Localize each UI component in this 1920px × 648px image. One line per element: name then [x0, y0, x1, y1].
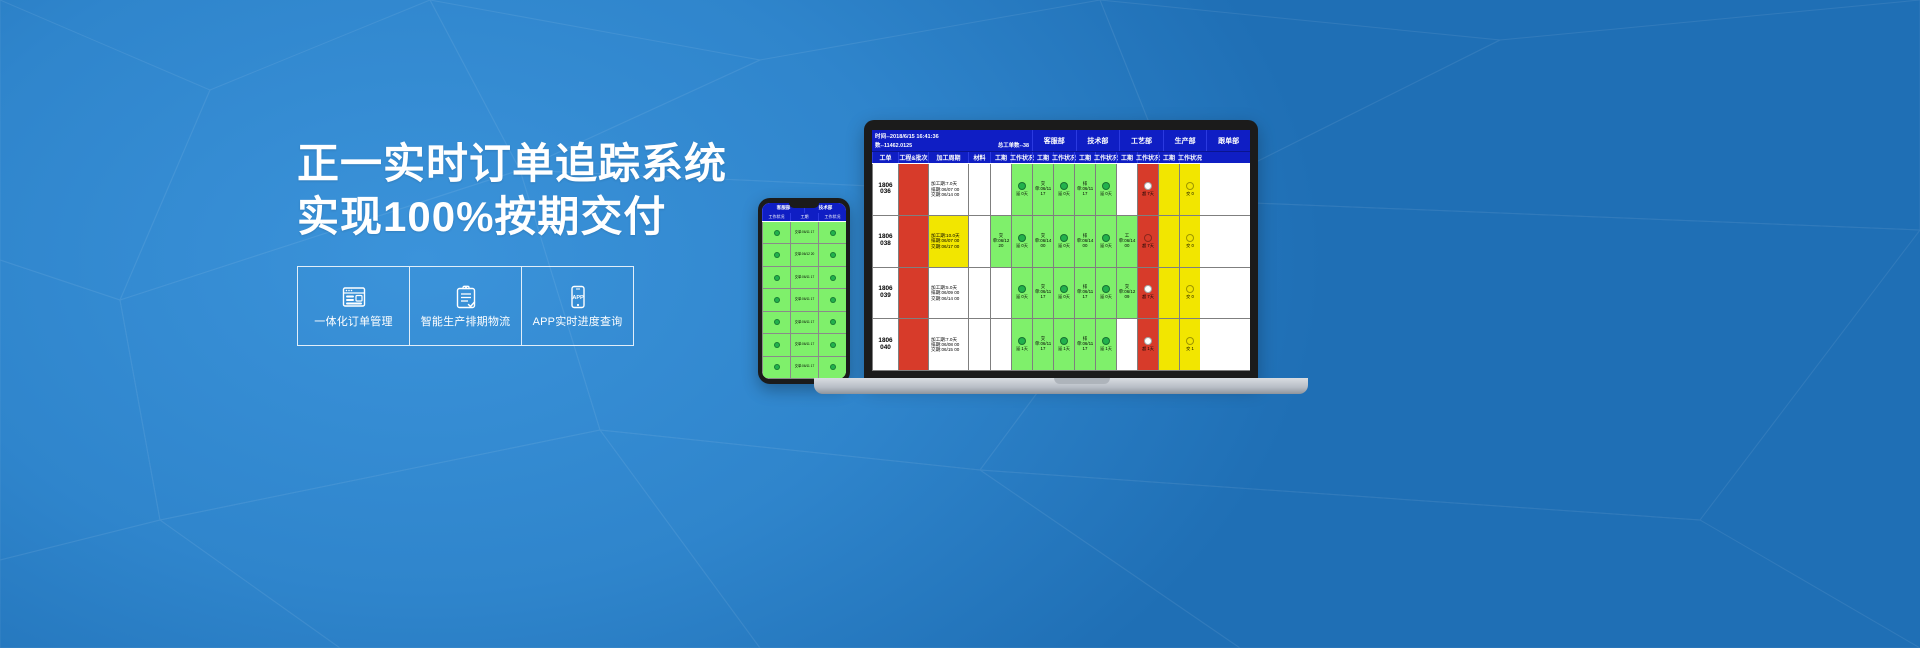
status-dot-icon [774, 252, 780, 258]
phone-status-cell [818, 267, 846, 288]
table-row[interactable]: 1806039加工期:5.0天排期:06/09 00交期:06/14 00延 0… [872, 268, 1250, 320]
term-cell: 工单:06/14 00 [1116, 216, 1137, 267]
phone-status-cell [818, 312, 846, 333]
column-header: 工程&批次 [898, 152, 928, 163]
processing-cycle-cell: 加工期:10.0天排期:06/07 00交期:06/17 00 [928, 216, 968, 267]
phone-status-cell [762, 289, 790, 310]
processing-cycle-cell: 加工期:5.0天排期:06/09 00交期:06/14 00 [928, 268, 968, 319]
feature-item-order-management[interactable]: 一体化订单管理 [298, 267, 410, 345]
status-dot-icon [1186, 337, 1194, 345]
status-dot-icon [774, 275, 780, 281]
term-cell [990, 164, 1011, 215]
term-cell [1116, 319, 1137, 370]
work-status-cell: 交 0 [1179, 164, 1200, 215]
status-dot-icon [1018, 182, 1026, 190]
status-dot-icon [830, 364, 836, 370]
laptop-screen[interactable]: 时间--2018/6/15 16:41:36 数--11462.0125 总工单… [872, 130, 1250, 371]
work-status-cell: 延 0天 [1011, 268, 1032, 319]
list-item[interactable]: 交单:06/11 17 [762, 357, 846, 379]
project-batch-cell [898, 268, 928, 319]
status-sub-label: 延 1天 [1058, 346, 1070, 352]
material-cell [968, 268, 990, 319]
column-header: 工期 [1032, 152, 1053, 163]
feature-list: 一体化订单管理 智能生产排期物流 [297, 266, 634, 346]
list-item[interactable]: 交单:06/11 17 [762, 267, 846, 289]
status-dot-icon [1018, 285, 1026, 293]
phone-term-label: 交单:06/11 17 [795, 231, 814, 235]
mobile-app-icon: APP [565, 284, 591, 310]
headline-line-2: 实现100%按期交付 [297, 191, 717, 244]
status-dot-icon [774, 297, 780, 303]
feature-label: 一体化订单管理 [314, 316, 392, 328]
processing-cycle-cell: 加工期:7.0天排期:06/07 00交期:06/14 00 [928, 164, 968, 215]
phone-status-cell [818, 289, 846, 310]
status-dot-icon [830, 297, 836, 303]
column-header: 工作状况 [1137, 152, 1158, 163]
term-cell: 排单:06/11 17 [1074, 319, 1095, 370]
phone-status-cell [818, 244, 846, 265]
term-cell: 排单:06/11 17 [1074, 164, 1095, 215]
term-cell [1158, 216, 1179, 267]
status-dot-icon [1102, 182, 1110, 190]
phone-table-body[interactable]: 交单:06/11 17交单:06/12 20交单:06/11 17交单:06/1… [762, 222, 846, 379]
status-sub-label: 延 0天 [1058, 243, 1070, 249]
phone-status-cell [818, 357, 846, 378]
laptop-trackpad-notch [1054, 378, 1110, 384]
project-batch-cell [898, 319, 928, 370]
dashboard-header: 时间--2018/6/15 16:41:36 数--11462.0125 总工单… [872, 130, 1250, 152]
list-item[interactable]: 交单:06/11 17 [762, 289, 846, 311]
column-header: 工作状况 [1053, 152, 1074, 163]
table-row[interactable]: 1806036加工期:7.0天排期:06/07 00交期:06/14 00延 0… [872, 164, 1250, 216]
phone-screen[interactable]: 客服部 技术部 工作状况 工期 工作状况 交单:06/11 17交单:06/12… [762, 203, 846, 379]
phone-column-header: 工作状况 工期 工作状况 [762, 213, 846, 222]
status-sub-label: 交 1 [1186, 346, 1194, 352]
list-item[interactable]: 交单:06/11 17 [762, 334, 846, 356]
material-cell [968, 216, 990, 267]
term-cell [990, 319, 1011, 370]
work-status-cell: 超 7天 [1137, 268, 1158, 319]
list-item[interactable]: 交单:06/12 20 [762, 244, 846, 266]
status-sub-label: 超 1天 [1142, 346, 1154, 352]
page-title: 正一实时订单追踪系统 实现100%按期交付 [297, 138, 717, 244]
status-sub-label: 延 0天 [1016, 191, 1028, 197]
phone-status-cell [818, 334, 846, 355]
phone-status-cell [762, 222, 790, 243]
hero-copy: 正一实时订单追踪系统 实现100%按期交付 一体化订单管理 [297, 138, 717, 346]
phone-term-cell: 交单:06/11 17 [790, 222, 818, 243]
term-cell: 交单:06/11 17 [1032, 164, 1053, 215]
status-sub-label: 延 1天 [1016, 346, 1028, 352]
dashboard-meta: 时间--2018/6/15 16:41:36 数--11462.0125 总工单… [872, 130, 1032, 151]
phone-col: 工作状况 [818, 213, 846, 221]
status-sub-label: 延 0天 [1100, 294, 1112, 300]
phone-term-cell: 交单:06/11 17 [790, 267, 818, 288]
work-status-cell: 延 0天 [1011, 216, 1032, 267]
work-status-cell: 超 7天 [1137, 216, 1158, 267]
phone-term-cell: 交单:06/11 17 [790, 289, 818, 310]
material-cell [968, 164, 990, 215]
term-cell: 交单:06/12 20 [990, 216, 1011, 267]
project-batch-cell [898, 216, 928, 267]
clipboard-checklist-icon [453, 284, 479, 310]
work-status-cell: 延 0天 [1095, 164, 1116, 215]
status-dot-icon [1102, 285, 1110, 293]
column-header: 工作状况 [1095, 152, 1116, 163]
department-header: 生产部 [1163, 130, 1207, 151]
phone-mockup: 客服部 技术部 工作状况 工期 工作状况 交单:06/11 17交单:06/12… [758, 198, 850, 384]
feature-label: 智能生产排期物流 [421, 316, 511, 328]
work-status-cell: 延 0天 [1053, 164, 1074, 215]
table-row[interactable]: 1806040加工期:7.0天排期:06/08 00交期:06/15 00延 1… [872, 319, 1250, 371]
status-dot-icon [1060, 234, 1068, 242]
column-header: 工期 [1074, 152, 1095, 163]
phone-status-cell [818, 222, 846, 243]
work-status-cell: 延 0天 [1095, 216, 1116, 267]
phone-term-cell: 交单:06/11 17 [790, 334, 818, 355]
status-dot-icon [1060, 337, 1068, 345]
department-header: 工艺部 [1119, 130, 1163, 151]
status-dot-icon [1144, 234, 1152, 242]
phone-term-label: 交单:06/11 17 [795, 276, 814, 280]
status-sub-label: 交 0 [1186, 243, 1194, 249]
laptop-lid: 时间--2018/6/15 16:41:36 数--11462.0125 总工单… [864, 120, 1258, 383]
work-status-cell: 延 0天 [1053, 216, 1074, 267]
status-sub-label: 延 0天 [1016, 294, 1028, 300]
status-sub-label: 延 0天 [1100, 243, 1112, 249]
term-cell [1116, 164, 1137, 215]
phone-col: 工作状况 [762, 213, 790, 221]
status-dot-icon [830, 230, 836, 236]
status-dot-icon [1186, 182, 1194, 190]
status-sub-label: 延 0天 [1058, 191, 1070, 197]
phone-status-cell [762, 244, 790, 265]
term-cell [1158, 319, 1179, 370]
work-order-cell: 1806039 [872, 268, 898, 319]
column-header: 工期 [1116, 152, 1137, 163]
phone-term-cell: 交单:06/12 20 [790, 244, 818, 265]
column-header: 工期 [990, 152, 1011, 163]
department-header: 技术部 [1076, 130, 1120, 151]
status-dot-icon [1144, 285, 1152, 293]
dashboard-timestamp: 时间--2018/6/15 16:41:36 [875, 132, 1029, 140]
work-status-cell: 延 0天 [1053, 268, 1074, 319]
column-header: 工期 [1158, 152, 1179, 163]
phone-term-label: 交单:06/11 17 [795, 298, 814, 302]
project-batch-cell [898, 164, 928, 215]
status-dot-icon [1060, 182, 1068, 190]
work-order-cell: 1806040 [872, 319, 898, 370]
status-dot-icon [1186, 234, 1194, 242]
phone-notch [789, 203, 819, 208]
status-dot-icon [830, 275, 836, 281]
material-cell [968, 319, 990, 370]
feature-item-app-tracking[interactable]: APP APP实时进度查询 [522, 267, 633, 345]
phone-term-label: 交单:06/12 20 [795, 253, 815, 257]
dashboard-total-orders: 总工单数--38 [998, 141, 1029, 149]
work-status-cell: 延 0天 [1095, 268, 1116, 319]
status-sub-label: 延 1天 [1100, 346, 1112, 352]
laptop-mockup: 时间--2018/6/15 16:41:36 数--11462.0125 总工单… [864, 120, 1320, 420]
phone-term-label: 交单:06/11 17 [795, 321, 814, 325]
term-cell: 交单:06/11 17 [1032, 319, 1053, 370]
term-cell [1158, 268, 1179, 319]
column-header: 工作状况 [1179, 152, 1200, 163]
term-cell: 交单:06/14 00 [1032, 216, 1053, 267]
work-status-cell: 延 1天 [1053, 319, 1074, 370]
work-status-cell: 超 7天 [1137, 164, 1158, 215]
status-dot-icon [830, 252, 836, 258]
column-header: 加工周期 [928, 152, 968, 163]
work-status-cell: 交 0 [1179, 268, 1200, 319]
work-status-cell: 延 0天 [1011, 164, 1032, 215]
work-status-cell: 超 1天 [1137, 319, 1158, 370]
status-sub-label: 超 7天 [1142, 294, 1154, 300]
list-item[interactable]: 交单:06/11 17 [762, 222, 846, 244]
feature-item-production-logistics[interactable]: 智能生产排期物流 [410, 267, 522, 345]
phone-status-cell [762, 334, 790, 355]
term-cell: 排单:06/14 00 [1074, 216, 1095, 267]
status-dot-icon [774, 230, 780, 236]
work-order-cell: 1806036 [872, 164, 898, 215]
phone-term-label: 交单:06/11 17 [795, 343, 814, 347]
phone-status-cell [762, 357, 790, 378]
status-dot-icon [774, 319, 780, 325]
department-header: 跟单部 [1206, 130, 1250, 151]
column-header: 工单 [872, 152, 898, 163]
status-dot-icon [1144, 182, 1152, 190]
status-sub-label: 延 0天 [1016, 243, 1028, 249]
work-order-cell: 1806038 [872, 216, 898, 267]
status-dot-icon [1018, 337, 1026, 345]
status-dot-icon [1144, 337, 1152, 345]
dashboard-metric: 数--11462.0125 [875, 141, 912, 149]
svg-text:APP: APP [572, 295, 584, 301]
term-cell: 交单:06/11 17 [1032, 268, 1053, 319]
phone-status-cell [762, 267, 790, 288]
status-dot-icon [830, 319, 836, 325]
department-header: 客服部 [1032, 130, 1076, 151]
list-item[interactable]: 交单:06/11 17 [762, 312, 846, 334]
term-cell [990, 268, 1011, 319]
status-dot-icon [1060, 285, 1068, 293]
status-sub-label: 超 7天 [1142, 191, 1154, 197]
status-sub-label: 延 0天 [1100, 191, 1112, 197]
work-status-cell: 延 1天 [1095, 319, 1116, 370]
column-header-row: 工单工程&批次加工周期材料工期工作状况工期工作状况工期工作状况工期工作状况工期工… [872, 152, 1250, 164]
status-dot-icon [1018, 234, 1026, 242]
phone-term-cell: 交单:06/11 17 [790, 357, 818, 378]
status-dot-icon [1102, 337, 1110, 345]
processing-cycle-cell: 加工期:7.0天排期:06/08 00交期:06/15 00 [928, 319, 968, 370]
dashboard-table-body[interactable]: 1806036加工期:7.0天排期:06/07 00交期:06/14 00延 0… [872, 164, 1250, 371]
status-sub-label: 延 0天 [1058, 294, 1070, 300]
feature-label: APP实时进度查询 [533, 316, 623, 328]
phone-status-cell [762, 312, 790, 333]
work-status-cell: 交 0 [1179, 216, 1200, 267]
status-sub-label: 交 0 [1186, 294, 1194, 300]
column-header: 工作状况 [1011, 152, 1032, 163]
status-dot-icon [774, 342, 780, 348]
work-status-cell: 延 1天 [1011, 319, 1032, 370]
column-header: 材料 [968, 152, 990, 163]
term-cell [1158, 164, 1179, 215]
status-dot-icon [1102, 234, 1110, 242]
term-cell: 交单:06/12 09 [1116, 268, 1137, 319]
phone-term-label: 交单:06/11 17 [795, 365, 814, 369]
department-header-row: 客服部技术部工艺部生产部跟单部 [1032, 130, 1250, 151]
phone-term-cell: 交单:06/11 17 [790, 312, 818, 333]
term-cell: 排单:06/11 17 [1074, 268, 1095, 319]
table-row[interactable]: 1806038加工期:10.0天排期:06/07 00交期:06/17 00交单… [872, 216, 1250, 268]
status-dot-icon [774, 364, 780, 370]
phone-col: 工期 [790, 213, 818, 221]
browser-window-icon [341, 284, 367, 310]
status-dot-icon [1186, 285, 1194, 293]
work-status-cell: 交 1 [1179, 319, 1200, 370]
headline-line-1: 正一实时订单追踪系统 [297, 140, 727, 187]
dashboard: 时间--2018/6/15 16:41:36 数--11462.0125 总工单… [872, 130, 1250, 371]
status-dot-icon [830, 342, 836, 348]
status-sub-label: 超 7天 [1142, 243, 1154, 249]
status-sub-label: 交 0 [1186, 191, 1194, 197]
